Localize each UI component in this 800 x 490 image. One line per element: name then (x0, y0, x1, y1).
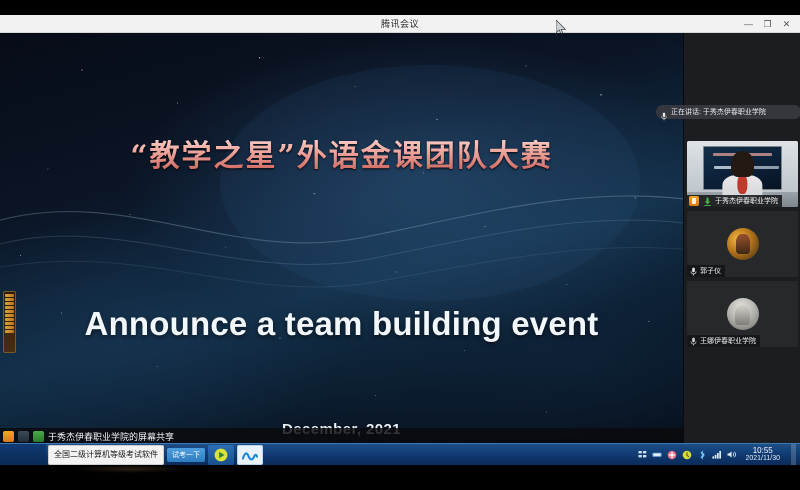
action-center-icon[interactable] (637, 450, 647, 460)
participant-tile[interactable]: 郭子仪 (687, 211, 798, 277)
participant-tile[interactable]: 于秀杰伊春职业学院 (687, 141, 798, 207)
browser-icon[interactable] (237, 445, 263, 465)
toolbar-segment (5, 318, 14, 321)
toolbar-segment (5, 314, 14, 317)
participant-label: 王娜伊春职业学院 (687, 335, 760, 347)
toolbar-segment (5, 330, 14, 333)
video-person-hair (731, 151, 754, 176)
microphone-muted-icon (689, 336, 697, 346)
screen-top-letterbox (0, 0, 800, 15)
left-edge-toolbar[interactable] (3, 291, 16, 353)
toolbar-segment (5, 322, 14, 325)
shared-screen-area[interactable]: “教学之星”外语金课团队大赛 Announce a team building … (0, 33, 683, 445)
toolbar-segment (5, 294, 14, 297)
screen-bottom-letterbox (0, 465, 800, 490)
participant-tile[interactable]: 王娜伊春职业学院 (687, 281, 798, 347)
network-icon[interactable] (652, 450, 662, 460)
slide-title: “教学之星”外语金课团队大赛 (0, 131, 683, 175)
participant-name: 王娜伊春职业学院 (700, 336, 756, 346)
video-person-scarf (738, 175, 748, 195)
avatar (727, 298, 759, 330)
participant-rail: 正在讲话: 于秀杰伊春职业学院 (683, 33, 800, 445)
taskbar-app-button[interactable]: 全国二级计算机等级考试软件 (48, 445, 164, 465)
slide-subtitle: Announce a team building event (0, 305, 683, 343)
taskbar-try-label: 试考一下 (172, 450, 200, 460)
minimize-button[interactable]: — (743, 20, 754, 29)
clock-date: 2021/11/30 (745, 455, 780, 462)
windows-taskbar[interactable]: 全国二级计算机等级考试软件 试考一下 (0, 443, 800, 465)
start-button[interactable] (0, 444, 46, 466)
app-icon (3, 431, 14, 442)
toolbar-segment (5, 310, 14, 313)
toolbar-segment (5, 306, 14, 309)
screen-share-icon (702, 196, 712, 206)
volume-icon[interactable] (727, 450, 737, 460)
participant-name: 郭子仪 (700, 266, 721, 276)
participant-label: 郭子仪 (687, 265, 725, 277)
screen-root: 腾讯会议 — ❐ ✕ “教学之星”外语金课团队大赛 Announce a tea… (0, 0, 800, 490)
show-desktop-button[interactable] (791, 444, 796, 466)
avatar (727, 228, 759, 260)
security-icon[interactable] (667, 450, 677, 460)
share-icon (33, 431, 44, 442)
taskbar-try-button[interactable]: 试考一下 (167, 448, 205, 462)
close-button[interactable]: ✕ (781, 20, 792, 29)
toolbar-segment (5, 302, 14, 305)
host-badge (689, 196, 699, 206)
window-title: 腾讯会议 (381, 17, 419, 30)
clock[interactable]: 10:55 2021/11/30 (745, 447, 784, 463)
participant-name: 于秀杰伊春职业学院 (715, 196, 778, 206)
window-titlebar[interactable]: 腾讯会议 — ❐ ✕ (0, 15, 800, 33)
taskbar-app-label: 全国二级计算机等级考试软件 (54, 449, 158, 460)
signal-icon[interactable] (712, 450, 722, 460)
clock-time: 10:55 (753, 447, 773, 455)
toolbar-segment (5, 326, 14, 329)
screen-share-notice-text: 于秀杰伊春职业学院的屏幕共享 (48, 430, 174, 443)
window-controls: — ❐ ✕ (743, 15, 798, 33)
toolbar-segment (5, 298, 14, 301)
participant-label: 于秀杰伊春职业学院 (687, 195, 782, 207)
system-tray: 10:55 2021/11/30 (637, 444, 800, 466)
microphone-icon (661, 108, 667, 117)
update-icon[interactable] (682, 450, 692, 460)
bluetooth-icon[interactable] (697, 450, 707, 460)
swoosh-decoration (0, 33, 683, 445)
microphone-muted-icon (689, 266, 697, 276)
speaking-banner: 正在讲话: 于秀杰伊春职业学院 (656, 105, 800, 119)
maximize-button[interactable]: ❐ (762, 20, 773, 29)
speaking-banner-text: 正在讲话: 于秀杰伊春职业学院 (671, 107, 766, 117)
screen-icon (18, 431, 29, 442)
media-play-icon[interactable] (208, 445, 234, 465)
